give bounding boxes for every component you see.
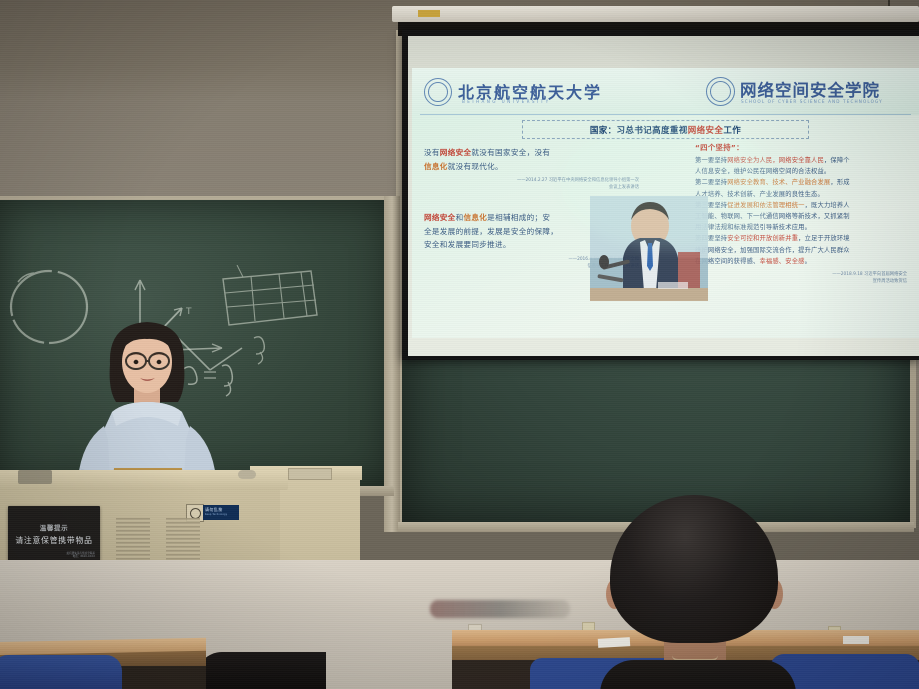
item1-a: 第一要坚持: [695, 157, 727, 164]
sign-heading: 温馨提示: [40, 522, 68, 532]
slide-title-suffix: 工作: [723, 126, 741, 136]
persistence-item-1: 第一要坚持网络安全为人民，网络安全靠人民，保障个 人信息安全，维护公民在网络空间…: [695, 155, 907, 177]
persistence-item-2: 第二要坚持网络安全教育、技术、产业融合发展，形成 人才培养、技术创新、产业发展的…: [695, 177, 907, 199]
cite3-l1: ——2018.9.18 习近平向首届网络安全: [832, 272, 907, 277]
slide-header: 北京航空航天大学 BEIHANG UNIVERSITY 网络空间安全学院 SCH…: [412, 68, 919, 115]
slide-school-name-en: SCHOOL OF CYBER SCIENCE AND TECHNOLOGY: [741, 99, 883, 104]
lectern-keypad: [288, 468, 332, 480]
citation-three: ——2018.9.18 习近平向首届网络安全 宣传周活动致贺信: [695, 271, 907, 285]
four-persistences-heading: “四个坚持”：: [695, 142, 907, 153]
quote2-hl2: 信息化: [463, 213, 487, 222]
beihang-university-seal: [424, 78, 452, 106]
speaker-photo-on-slide: [590, 196, 708, 301]
item2-b: ，形成: [830, 179, 849, 186]
cite1-l2: 会议上发表讲话: [609, 185, 639, 190]
item4-c: 维护网络安全，加强国际交流合作，提升广大人民群众: [695, 247, 850, 254]
persistence-item-4: 第四要坚持安全可控和开放创新并重，立足于开放环境 维护网络安全，加强国际交流合作…: [695, 233, 907, 267]
item1-hl: 网络安全为人民，网络安全靠人民: [727, 157, 824, 164]
quote2-p2: 全是发展的前提，发展是安全的保障，: [424, 227, 558, 236]
slide-title: 国家：习总书记高度重视网络安全工作: [590, 124, 741, 136]
quote2-p1: 是相辅相成的；安: [487, 213, 550, 222]
item2-hl: 网络安全教育、技术、产业融合发展: [727, 179, 830, 186]
quote1-p2: 就没有国家安全，没有: [471, 148, 550, 157]
item3-d: 用法律法规和标准规范引导新技术应用。: [695, 224, 811, 231]
item2-a: 第二要坚持: [695, 179, 727, 186]
quote-one: 没有网络安全就没有国家安全，没有 信息化就没有现代化。: [424, 146, 639, 173]
cite1-l1: ——2014.2.27 习近平在中央网络安全和信息化领导小组第一次: [517, 178, 639, 183]
roller-sticker: [418, 10, 440, 17]
student-seated-foreground: [576, 495, 828, 689]
cyber-school-seal: [706, 77, 735, 106]
quote1-hl1: 网络安全: [440, 148, 472, 157]
item1-c: 人信息安全，维护公民在网络空间的合法权益。: [695, 168, 830, 175]
persistence-item-3: 第三要坚持促进发展和依法管理相统一，既大力培养人 工智能、物联网、下一代通信网络…: [695, 200, 907, 234]
sign-footnote: 如有遗失请与值班室联系 电话：8610-XXXX: [66, 552, 95, 559]
slide-title-prefix: 国家：习总书记高度重视: [590, 126, 688, 136]
chalkboard-divider: [384, 196, 400, 532]
lectern-mouse: [238, 470, 256, 479]
item4-e: 。: [805, 258, 811, 265]
item1-b: ，保障个: [824, 157, 850, 164]
cite3-l2: 宣传周活动致贺信: [873, 279, 907, 284]
student-hair: [610, 495, 778, 643]
item3-hl: 促进发展和依法管理相统一: [727, 202, 804, 209]
presenter-at-lectern: [52, 310, 242, 495]
lectern-equipment: [18, 470, 52, 484]
sign-footnote-l2: 电话：8610-XXXX: [73, 555, 95, 558]
item4-b: ，立足于开放环境: [798, 235, 850, 242]
slide-right-column: “四个坚持”： 第一要坚持网络安全为人民，网络安全靠人民，保障个 人信息安全，维…: [695, 142, 907, 285]
item3-b: ，既大力培养人: [805, 202, 850, 209]
slide-university-name-en: BEIHANG UNIVERSITY: [462, 99, 551, 104]
slide-title-highlight: 网络安全: [688, 126, 724, 136]
sign-message: 请注意保管携带物品: [15, 535, 92, 546]
projector-screen-roller: [392, 6, 919, 22]
quote1-p1: 没有: [424, 148, 440, 157]
blue-chair-left: [0, 655, 122, 689]
lectern-label-en: Keep Technology: [205, 513, 227, 516]
slide-school-name: 网络空间安全学院: [740, 77, 880, 101]
student-shoulder-right: [196, 652, 326, 689]
quote1-p3: 就没有现代化。: [448, 162, 503, 171]
lectern-warning-sign: 温馨提示 请注意保管携带物品 如有遗失请与值班室联系 电话：8610-XXXX: [8, 506, 100, 562]
citation-one: ——2014.2.27 习近平在中央网络安全和信息化领导小组第一次 会议上发表讲…: [424, 177, 639, 191]
quote2-p3: 安全和发展要同步推进。: [424, 240, 511, 249]
item3-c: 工智能、物联网、下一代通信网络等新技术，又抓紧制: [695, 213, 850, 220]
classroom-photo-scene: T 北京航空航天大学 BEIHANG UNIVERSITY 网络空间安全学院 S…: [0, 0, 919, 689]
quote1-hl2: 信息化: [424, 162, 448, 171]
item2-c: 人才培养、技术创新、产业发展的良性生态。: [695, 191, 824, 198]
quote2-hl1: 网络安全: [424, 213, 456, 222]
paper-on-desk-2: [843, 636, 869, 644]
student-shirt: [600, 660, 796, 689]
item4-hl2: 幸福感、安全感: [759, 258, 804, 265]
floor-shadow: [430, 600, 570, 618]
item4-hl: 安全可控和开放创新并重: [727, 235, 798, 242]
presentation-slide: 北京航空航天大学 BEIHANG UNIVERSITY 网络空间安全学院 SCH…: [412, 68, 919, 338]
slide-title-box: 国家：习总书记高度重视网络安全工作: [522, 120, 809, 139]
